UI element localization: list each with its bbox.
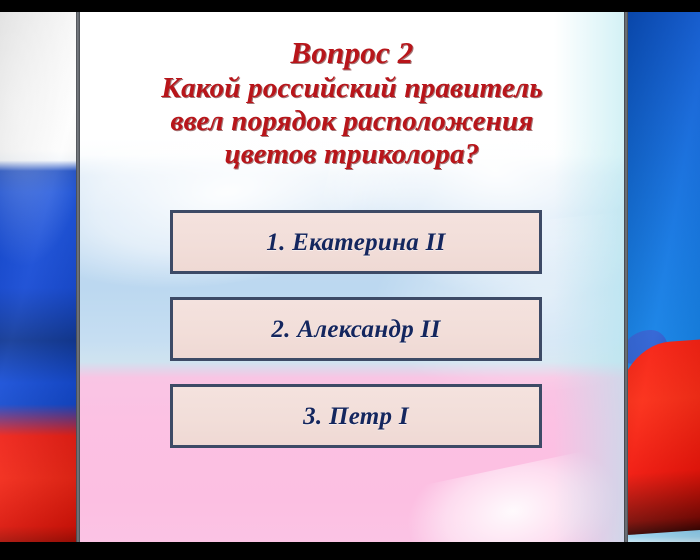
question-number: Вопрос 2 [80,36,624,70]
answer-option-1-label: 1. Екатерина II [266,229,445,256]
answer-option-2-label: 2. Александр II [271,316,440,343]
flag-sheen-left [0,12,78,542]
question-text-line-3: цветов триколора? [80,138,624,171]
panel-divider-right [624,12,628,542]
letterbox-bottom [0,542,700,560]
flag-backdrop: Вопрос 2 Какой российский правитель ввел… [0,12,700,542]
answer-option-1[interactable]: 1. Екатерина II [170,210,542,274]
answer-option-3[interactable]: 3. Петр I [170,384,542,448]
flag-strip-right [628,12,700,542]
panel-divider-left [76,12,80,542]
question-text-line-2: ввел порядок расположения [80,105,624,138]
content-panel: Вопрос 2 Какой российский правитель ввел… [80,12,624,542]
slide-canvas: Вопрос 2 Какой российский правитель ввел… [0,0,700,560]
flag-sheen-right [628,12,700,542]
answer-option-3-label: 3. Петр I [303,403,409,430]
letterbox-top [0,0,700,12]
answer-option-2[interactable]: 2. Александр II [170,297,542,361]
flag-strip-left [0,12,78,542]
question-text-line-1: Какой российский правитель [80,72,624,105]
question-block: Вопрос 2 Какой российский правитель ввел… [80,12,624,171]
answer-options-list: 1. Екатерина II 2. Александр II 3. Петр … [170,210,542,471]
